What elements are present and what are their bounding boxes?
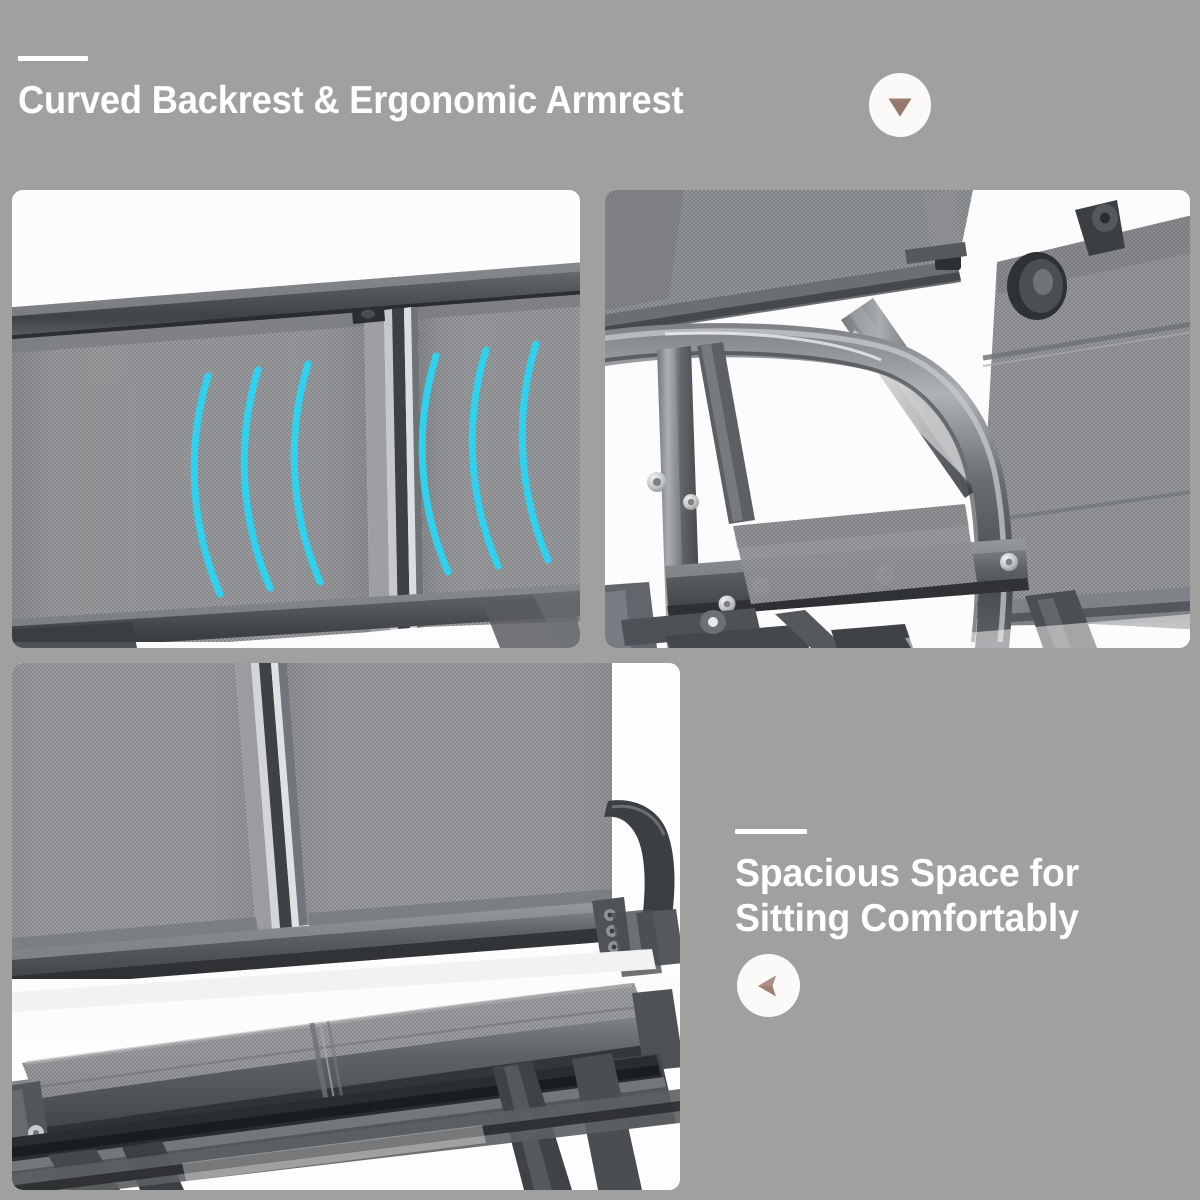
panel-armrest-closeup xyxy=(605,190,1190,648)
triangle-down-icon xyxy=(880,85,920,125)
callout-title: Spacious Space for Sitting Comfortably xyxy=(735,851,1079,941)
scroll-down-badge[interactable] xyxy=(869,73,931,137)
page-title: Curved Backrest & Ergonomic Armrest xyxy=(18,79,683,123)
panel-backrest-closeup xyxy=(12,190,580,648)
callout-accent-dash xyxy=(735,829,807,834)
panel-seat-wide-view xyxy=(12,663,680,1190)
previous-slide-badge[interactable] xyxy=(737,954,800,1017)
product-feature-infographic: Curved Backrest & Ergonomic Armrest xyxy=(0,0,1200,1200)
header-accent-dash xyxy=(18,56,88,61)
arrow-left-icon xyxy=(749,966,789,1006)
